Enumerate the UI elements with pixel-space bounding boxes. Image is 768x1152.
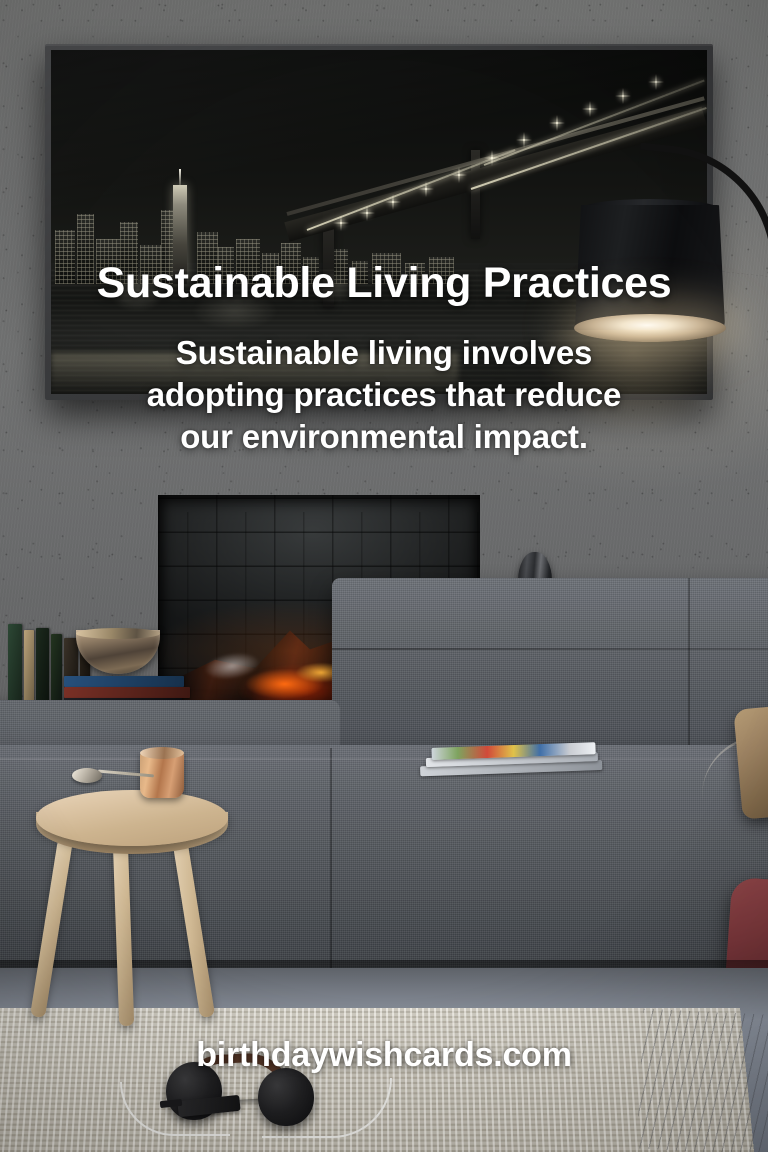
spoon-bowl xyxy=(72,768,102,783)
floor-lamp-shade xyxy=(575,205,725,327)
book-spine-2 xyxy=(24,630,34,708)
book-spine-3 xyxy=(36,628,49,708)
sofa-backrest xyxy=(332,578,768,768)
book-spine-text xyxy=(36,628,49,708)
book-spine-4 xyxy=(51,634,62,708)
sofa-backrest-seam xyxy=(332,648,768,650)
rug-fringe xyxy=(636,1008,768,1152)
floor-lamp-bulb-glow xyxy=(574,314,726,342)
greeting-card: Sustainable Living Practices Sustainable… xyxy=(0,0,768,1152)
book-spine-1 xyxy=(8,624,22,708)
book-stack-blue xyxy=(64,676,184,687)
sofa-fabric-texture xyxy=(332,578,768,768)
stool-tabletop xyxy=(36,790,228,846)
copper-mug-rim xyxy=(140,747,184,759)
sofa-seat-seam-horizontal xyxy=(0,758,768,760)
headphone-earcup-right xyxy=(258,1068,314,1126)
book-stack-red xyxy=(64,687,190,698)
brass-bowl-rim xyxy=(76,628,160,639)
room-scene xyxy=(0,0,768,1152)
sofa-backrest-seam-vertical xyxy=(688,578,690,768)
magazines xyxy=(419,742,610,785)
